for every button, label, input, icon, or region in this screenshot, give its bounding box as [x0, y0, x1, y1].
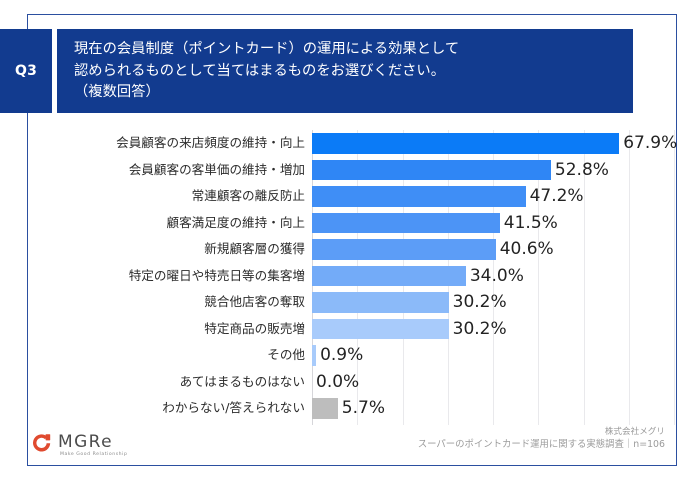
- bar-track: 30.2%: [312, 316, 674, 343]
- bar: [312, 266, 466, 287]
- bar-value-label: 47.2%: [526, 183, 584, 210]
- chart-row: その他0.9%: [0, 342, 700, 369]
- bar: [312, 319, 449, 340]
- category-label: 会員顧客の客単価の維持・増加: [0, 157, 305, 184]
- mgre-logo: MGRe Make Good Relationship: [31, 430, 161, 462]
- category-label: 新規顧客層の獲得: [0, 236, 305, 263]
- bar-track: 0.0%: [312, 369, 674, 396]
- mgre-wordmark: MGRe: [58, 432, 113, 452]
- bar-value-label: 40.6%: [496, 236, 554, 263]
- bar-track: 41.5%: [312, 210, 674, 237]
- bar-value-label: 34.0%: [466, 263, 524, 290]
- bar-value-label: 0.0%: [312, 369, 359, 396]
- bar: [312, 213, 500, 234]
- bar-chart: 会員顧客の来店頻度の維持・向上67.9%会員顧客の客単価の維持・増加52.8%常…: [0, 130, 700, 425]
- bar-value-label: 52.8%: [551, 157, 609, 184]
- category-label: 常連顧客の離反防止: [0, 183, 305, 210]
- category-label: 会員顧客の来店頻度の維持・向上: [0, 130, 305, 157]
- chart-row: 会員顧客の来店頻度の維持・向上67.9%: [0, 130, 700, 157]
- bar-track: 0.9%: [312, 342, 674, 369]
- chart-row: 会員顧客の客単価の維持・増加52.8%: [0, 157, 700, 184]
- bar-track: 40.6%: [312, 236, 674, 263]
- category-label: 特定の曜日や特売日等の集客増: [0, 263, 305, 290]
- bar-track: 30.2%: [312, 289, 674, 316]
- bar-track: 67.9%: [312, 130, 674, 157]
- bar-value-label: 30.2%: [449, 316, 507, 343]
- chart-row: 新規顧客層の獲得40.6%: [0, 236, 700, 263]
- bar-value-label: 30.2%: [449, 289, 507, 316]
- chart-row: 特定の曜日や特売日等の集客増34.0%: [0, 263, 700, 290]
- bar-track: 5.7%: [312, 395, 674, 422]
- slide-canvas: Q3 現在の会員制度（ポイントカード）の運用による効果として 認められるものとし…: [0, 0, 700, 484]
- question-number-badge: Q3: [0, 29, 52, 113]
- chart-row: あてはまるものはない0.0%: [0, 369, 700, 396]
- slide-footer: MGRe Make Good Relationship 株式会社メグリ スーパー…: [0, 424, 700, 468]
- question-header: Q3 現在の会員制度（ポイントカード）の運用による効果として 認められるものとし…: [0, 29, 700, 113]
- mgre-logo-mark-icon: [31, 433, 53, 455]
- bar-value-label: 5.7%: [338, 395, 385, 422]
- category-label: その他: [0, 342, 305, 369]
- bar: [312, 239, 496, 260]
- category-label: 競合他店客の奪取: [0, 289, 305, 316]
- chart-row: 常連顧客の離反防止47.2%: [0, 183, 700, 210]
- bar: [312, 398, 338, 419]
- bar-value-label: 67.9%: [619, 130, 677, 157]
- category-label: わからない/答えられない: [0, 395, 305, 422]
- chart-row: 特定商品の販売増30.2%: [0, 316, 700, 343]
- survey-credit: 株式会社メグリ スーパーのポイントカード運用に関する実態調査｜n=106: [418, 426, 665, 451]
- credit-survey: スーパーのポイントカード運用に関する実態調査｜n=106: [418, 438, 665, 451]
- category-label: 特定商品の販売増: [0, 316, 305, 343]
- question-title-line-2: 認められるものとして当てはまるものをお選びください。: [74, 61, 633, 83]
- category-label: 顧客満足度の維持・向上: [0, 210, 305, 237]
- category-label: あてはまるものはない: [0, 369, 305, 396]
- bar-value-label: 0.9%: [316, 342, 363, 369]
- bar-value-label: 41.5%: [500, 210, 558, 237]
- chart-row: 競合他店客の奪取30.2%: [0, 289, 700, 316]
- question-title-box: 現在の会員制度（ポイントカード）の運用による効果として 認められるものとして当て…: [57, 29, 633, 113]
- mgre-tagline: Make Good Relationship: [60, 452, 127, 457]
- chart-row: わからない/答えられない5.7%: [0, 395, 700, 422]
- credit-company: 株式会社メグリ: [418, 426, 665, 438]
- chart-row: 顧客満足度の維持・向上41.5%: [0, 210, 700, 237]
- bar: [312, 292, 449, 313]
- bar-track: 47.2%: [312, 183, 674, 210]
- bar: [312, 160, 551, 181]
- bar: [312, 186, 526, 207]
- question-title-line-3: （複数回答）: [74, 82, 633, 104]
- bar: [312, 133, 619, 154]
- question-title-line-1: 現在の会員制度（ポイントカード）の運用による効果として: [74, 39, 633, 61]
- bar-track: 52.8%: [312, 157, 674, 184]
- bar-track: 34.0%: [312, 263, 674, 290]
